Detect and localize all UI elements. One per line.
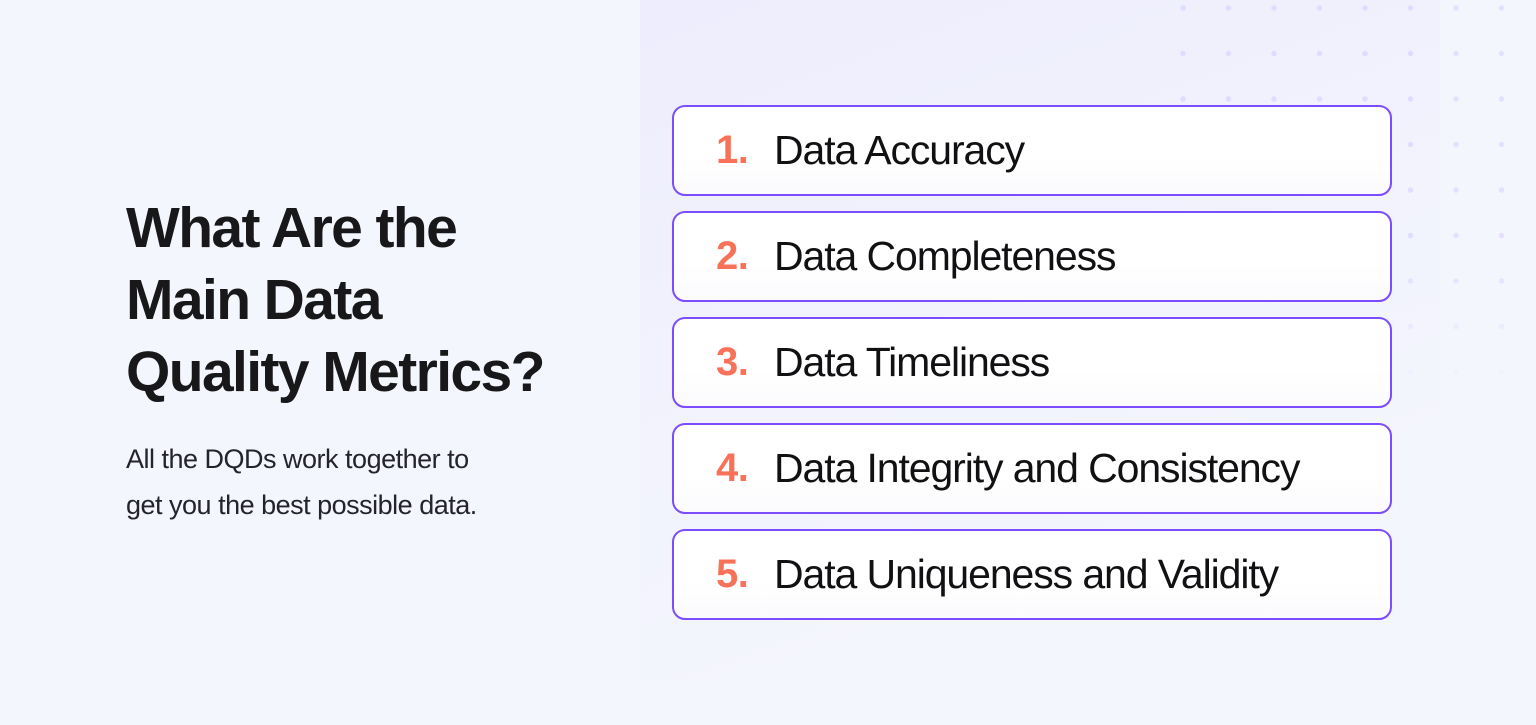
metric-number: 3. [716, 340, 774, 385]
left-text-panel: What Are the Main Data Quality Metrics? … [126, 192, 596, 528]
page-subtitle: All the DQDs work together to get you th… [126, 436, 596, 528]
metric-label: Data Uniqueness and Validity [774, 554, 1278, 595]
metric-label: Data Timeliness [774, 342, 1049, 383]
list-item[interactable]: 3. Data Timeliness [672, 317, 1392, 408]
metric-number: 5. [716, 552, 774, 597]
list-item[interactable]: 5. Data Uniqueness and Validity [672, 529, 1392, 620]
metric-number: 2. [716, 234, 774, 279]
metric-label: Data Accuracy [774, 130, 1024, 171]
metric-label: Data Integrity and Consistency [774, 448, 1299, 489]
page-title: What Are the Main Data Quality Metrics? [126, 192, 596, 408]
list-item[interactable]: 4. Data Integrity and Consistency [672, 423, 1392, 514]
metric-number: 1. [716, 128, 774, 173]
list-item[interactable]: 1. Data Accuracy [672, 105, 1392, 196]
metric-number: 4. [716, 446, 774, 491]
metrics-list: 1. Data Accuracy 2. Data Completeness 3.… [672, 105, 1392, 620]
list-item[interactable]: 2. Data Completeness [672, 211, 1392, 302]
metric-label: Data Completeness [774, 236, 1115, 277]
